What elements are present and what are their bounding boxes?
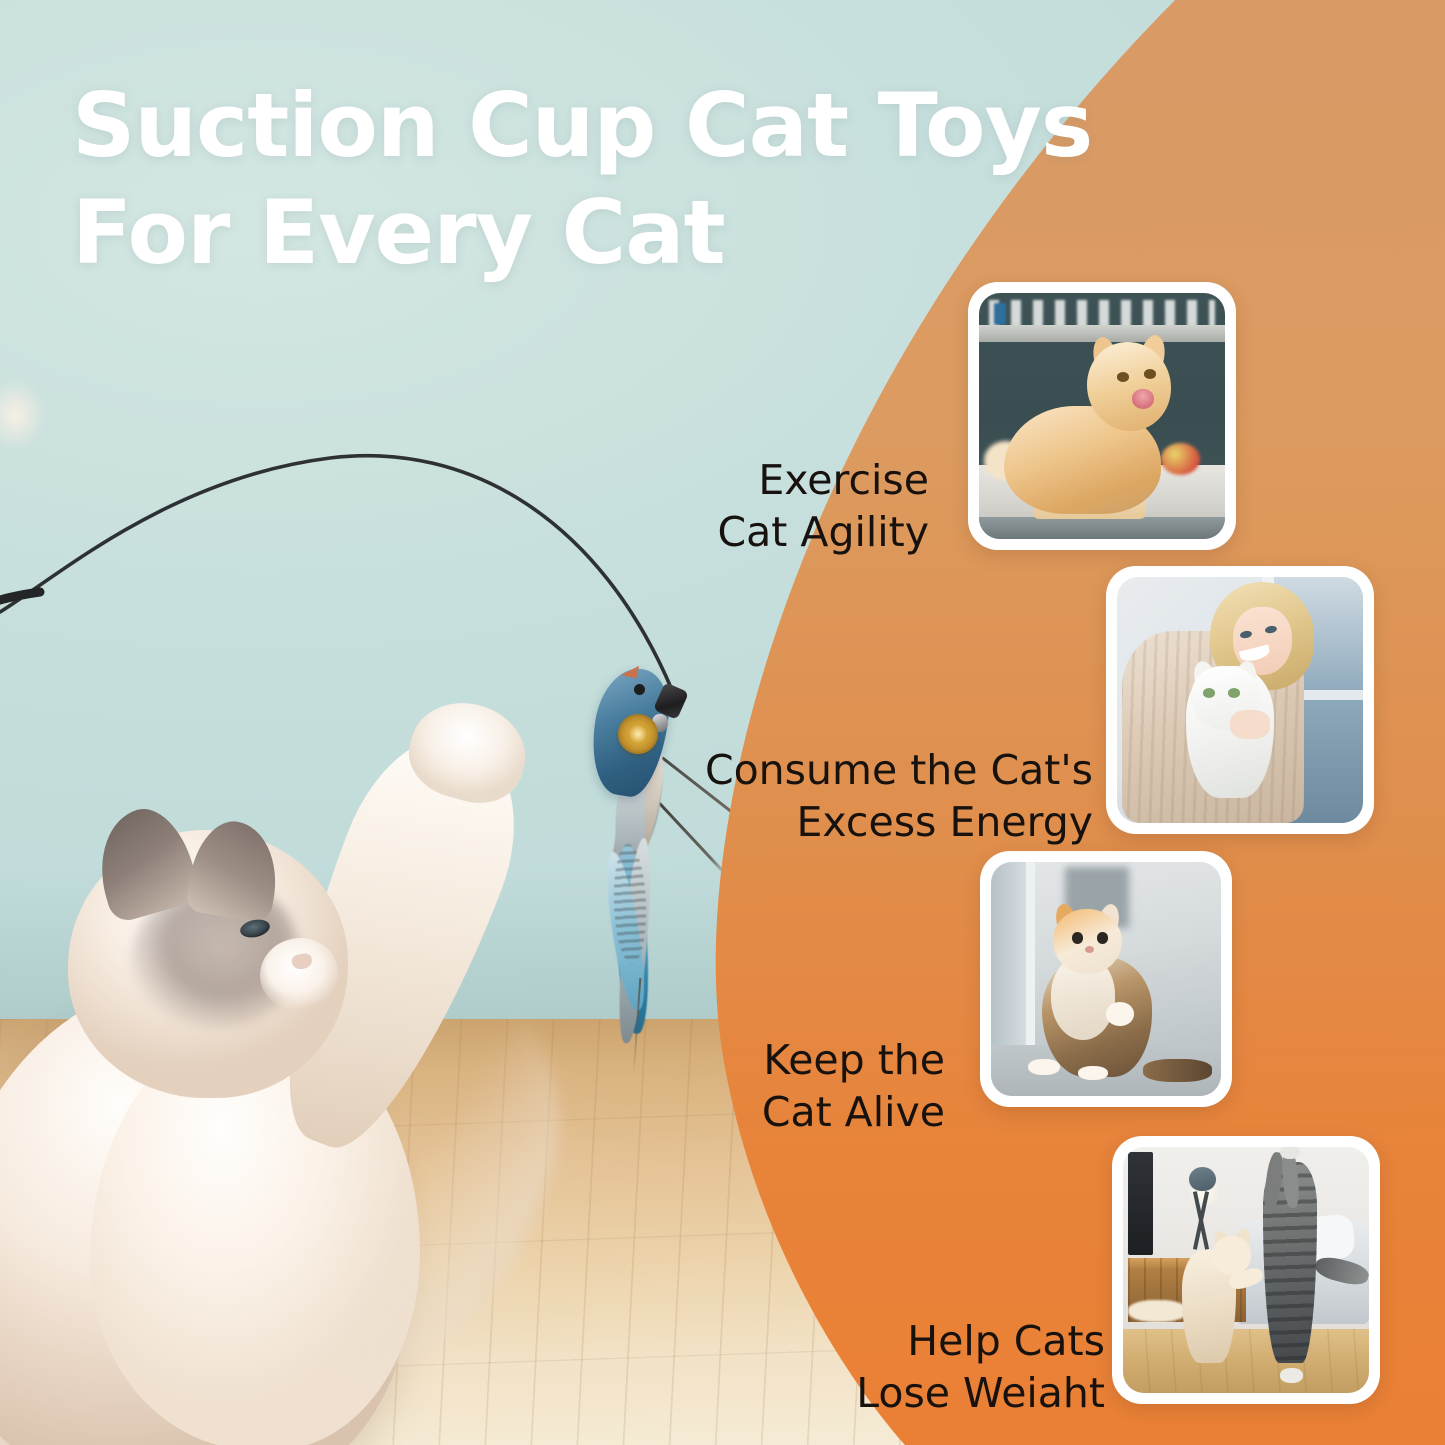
photo1-cat-head xyxy=(1087,342,1171,431)
photo3-cat-head xyxy=(1053,909,1122,975)
hero-cat xyxy=(0,770,660,1445)
title-line-2: For Every Cat xyxy=(72,179,1172,286)
photo4-cream-cat-tail xyxy=(1128,1300,1187,1322)
photo3-cat-tail xyxy=(1143,1059,1212,1082)
feature-thumbnail-1 xyxy=(968,282,1236,550)
feature-label-exercise-cat-agility: Exercise Cat Agility xyxy=(718,455,929,558)
photo3-cat-front-paw-right xyxy=(1078,1066,1108,1080)
photo2-cat-eye-right xyxy=(1228,688,1240,698)
feature-photo-help-cats-lose-weight xyxy=(1123,1147,1369,1393)
feature-photo-keep-cat-alive xyxy=(991,862,1221,1096)
toy-gold-flower-ornament xyxy=(618,714,658,754)
photo4-lamp-shade xyxy=(1189,1167,1216,1192)
product-infographic: Suction Cup Cat Toys For Every Cat Exerc… xyxy=(0,0,1445,1445)
photo1-cat-open-mouth xyxy=(1132,389,1154,409)
page-title: Suction Cup Cat Toys For Every Cat xyxy=(72,72,1172,287)
photo3-cat-eye-right xyxy=(1097,932,1109,944)
feature-label-help-cats-lose-weight: Help Cats Lose Weiaht xyxy=(856,1316,1105,1419)
photo2-woman-hand xyxy=(1230,710,1269,740)
toy-bird-eye xyxy=(634,684,645,695)
feature-photo-consume-excess-energy xyxy=(1117,577,1363,823)
photo2-cat-eye-left xyxy=(1203,688,1215,698)
photo3-cat-eye-left xyxy=(1072,932,1084,944)
photo4-floor xyxy=(1123,1329,1369,1393)
photo4-tv xyxy=(1128,1152,1153,1255)
photo3-cat-front-paw-left xyxy=(1028,1059,1060,1075)
photo3-cat-raised-paw xyxy=(1106,1002,1134,1025)
feature-thumbnail-3 xyxy=(980,851,1232,1107)
photo3-door xyxy=(991,862,1030,1054)
photo1-blue-bottle xyxy=(994,303,1006,325)
photo1-cat-eye-left xyxy=(1117,372,1129,382)
feature-label-keep-cat-alive: Keep the Cat Alive xyxy=(762,1035,945,1138)
feature-label-consume-excess-energy: Consume the Cat's Excess Energy xyxy=(705,745,1093,848)
photo1-counter-edge xyxy=(979,517,1225,539)
photo4-grey-cat-foot xyxy=(1280,1368,1302,1383)
photo1-shelf-bottles xyxy=(989,300,1215,327)
feature-thumbnail-4 xyxy=(1112,1136,1380,1404)
feature-photo-exercise-cat-agility xyxy=(979,293,1225,539)
title-line-1: Suction Cup Cat Toys xyxy=(72,74,1092,177)
feature-thumbnail-2 xyxy=(1106,566,1374,834)
